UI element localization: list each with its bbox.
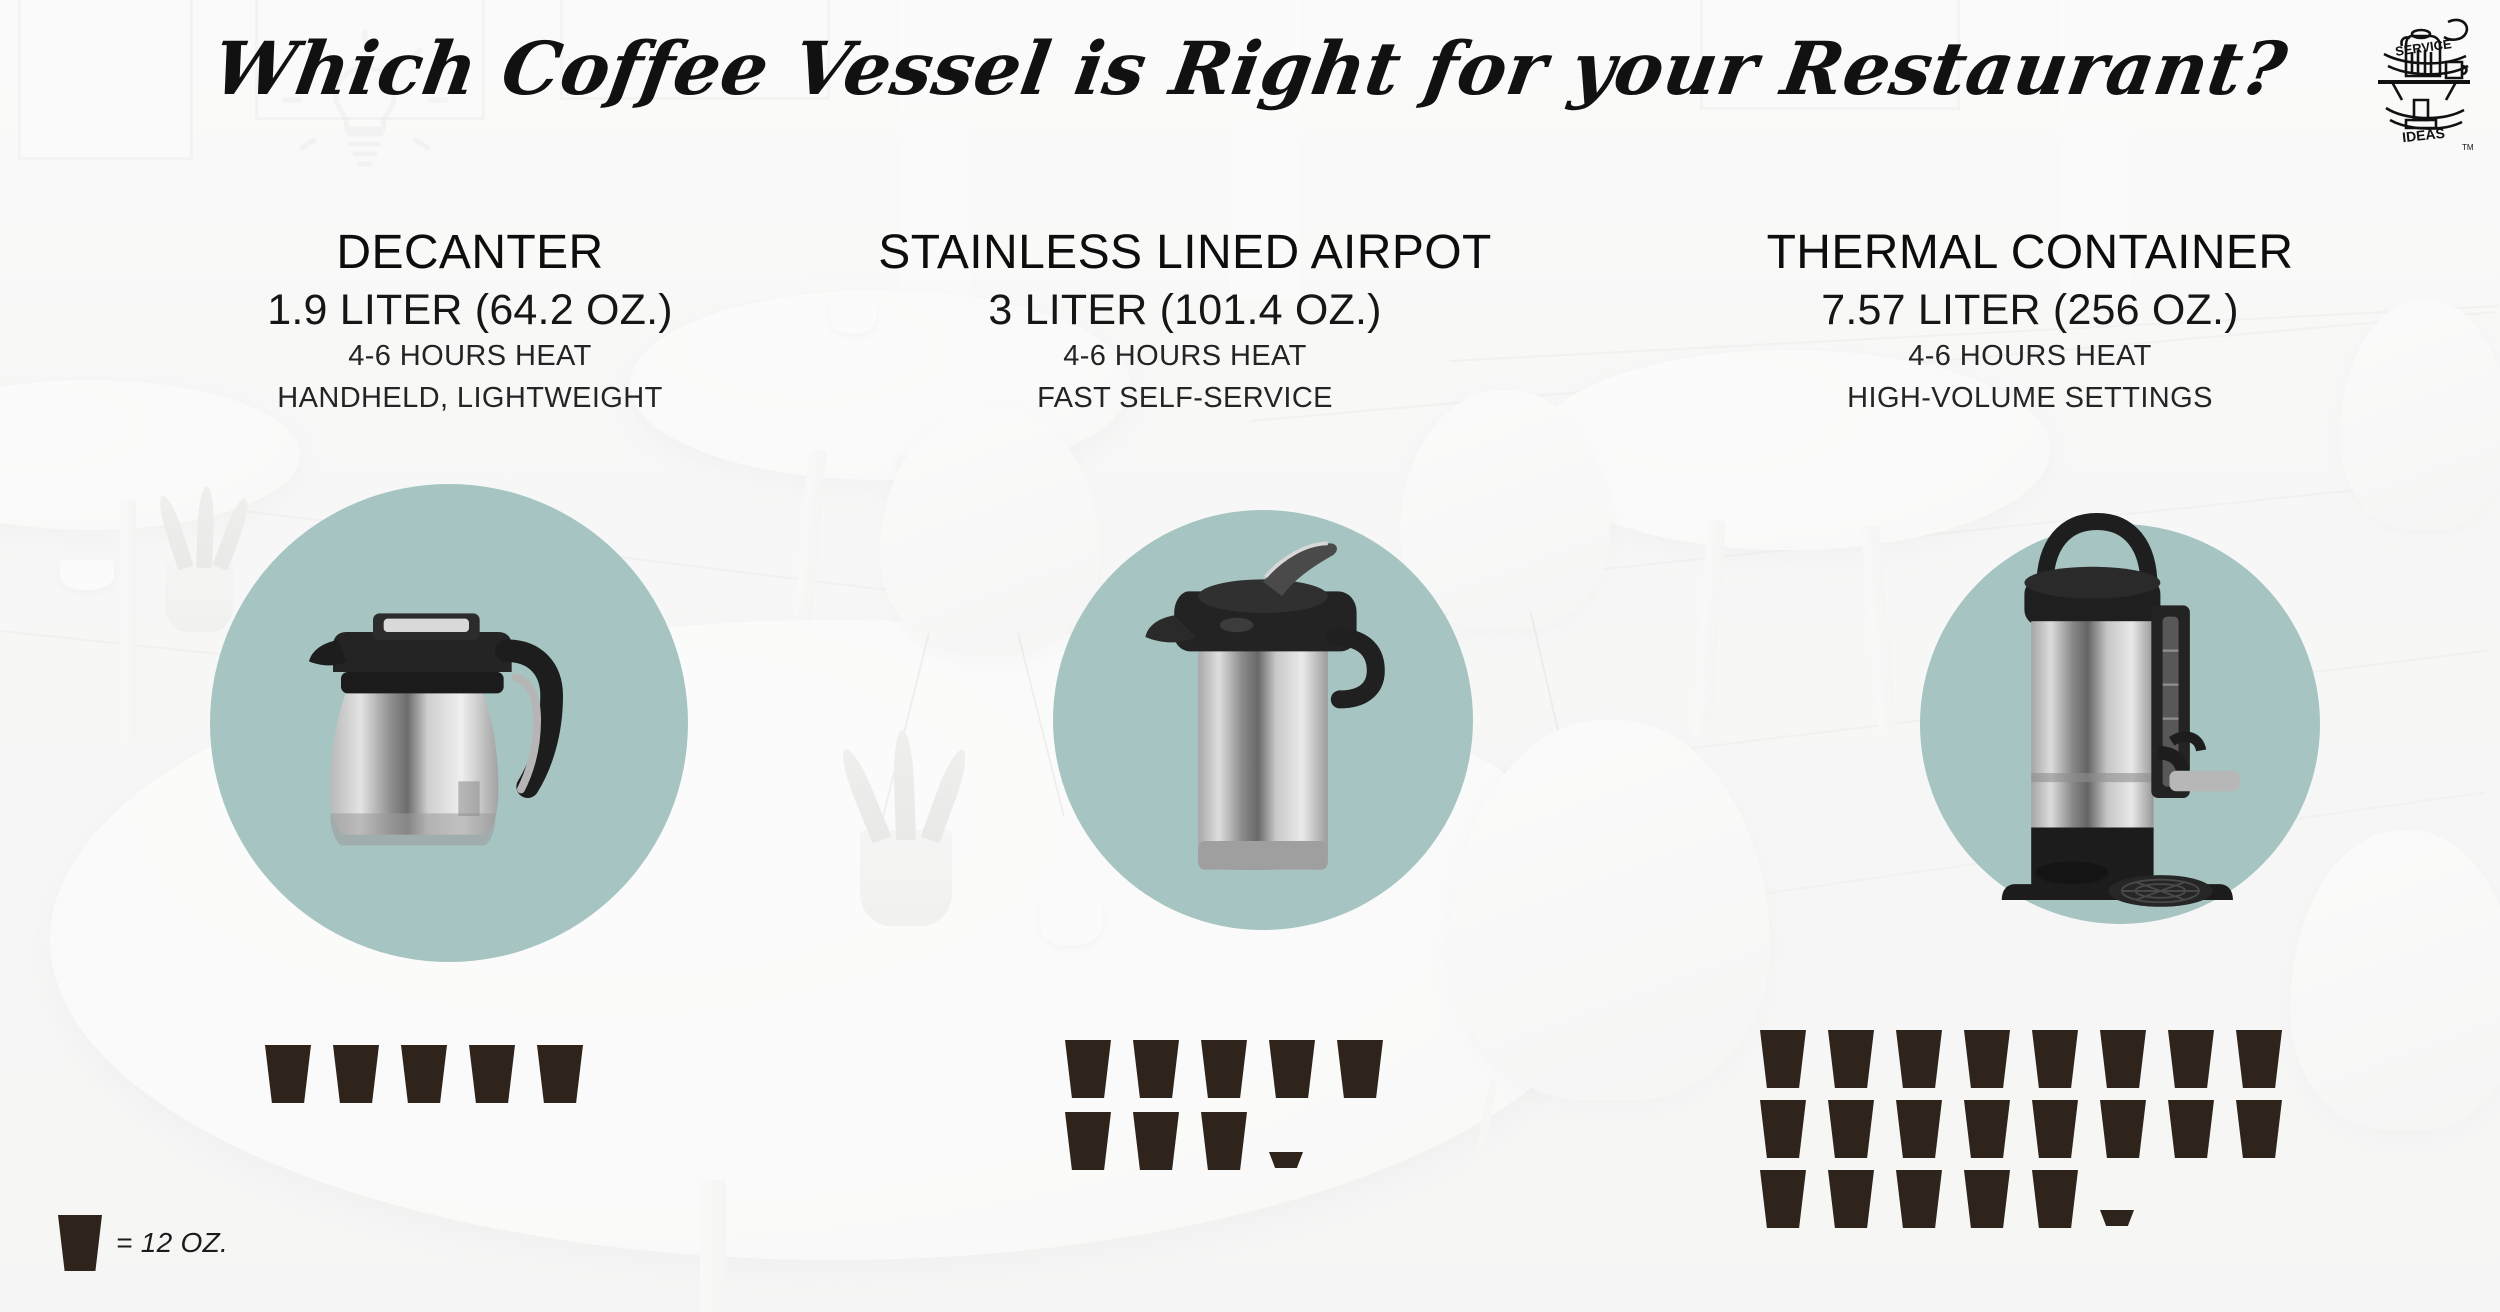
- cup-pictogram: [1828, 1030, 1874, 1088]
- column-volume: 3 LITER (101.4 OZ.): [835, 288, 1535, 334]
- cup-pictogram: [1065, 1040, 1111, 1098]
- column-volume: 7.57 LITER (256 OZ.): [1680, 288, 2380, 334]
- cup-pictogram: [1133, 1040, 1179, 1098]
- cup-pictogram-group-decanter: [265, 1045, 605, 1103]
- cup-pictogram: [1337, 1040, 1383, 1098]
- cup-row: [1760, 1100, 2304, 1158]
- cup-pictogram: [333, 1045, 379, 1103]
- cup-pictogram: [1828, 1170, 1874, 1228]
- column-decanter: DECANTER 1.9 LITER (64.2 OZ.) 4-6 HOURS …: [120, 228, 820, 417]
- cup-pictogram-group-airpot: [1065, 1040, 1405, 1170]
- cup-pictogram-group-thermal-container: [1760, 1030, 2304, 1228]
- cup-pictogram: [2032, 1100, 2078, 1158]
- cup-pictogram: [2236, 1100, 2282, 1158]
- cup-pictogram: [2100, 1100, 2146, 1158]
- column-heat: 4-6 HOURS HEAT: [835, 338, 1535, 375]
- column-airpot: STAINLESS LINED AIRPOT 3 LITER (101.4 OZ…: [835, 228, 1535, 417]
- cup-row: [1760, 1030, 2304, 1088]
- service-ideas-logo: SERVICE IDEAS TM: [2370, 8, 2478, 158]
- page-title: Which Coffee Vessel is Right for your Re…: [0, 26, 2500, 112]
- column-title: DECANTER: [120, 228, 820, 278]
- airpot-product-image: [1083, 450, 1443, 920]
- cup-pictogram: [1760, 1170, 1806, 1228]
- cup-pictogram-partial: [1269, 1152, 1303, 1168]
- legend-cup-icon: [58, 1215, 102, 1271]
- cup-pictogram: [1964, 1100, 2010, 1158]
- infographic-canvas: Which Coffee Vessel is Right for your Re…: [0, 0, 2500, 1312]
- column-feature: HIGH-VOLUME SETTINGS: [1680, 380, 2380, 417]
- cup-pictogram: [469, 1045, 515, 1103]
- decanter-product-image: [240, 528, 650, 928]
- column-feature: FAST SELF-SERVICE: [835, 380, 1535, 417]
- column-title: THERMAL CONTAINER: [1680, 228, 2380, 278]
- column-heat: 4-6 HOURS HEAT: [1680, 338, 2380, 375]
- cup-pictogram: [1896, 1030, 1942, 1088]
- cup-pictogram: [2032, 1170, 2078, 1228]
- cup-pictogram: [1760, 1100, 1806, 1158]
- cup-pictogram: [1201, 1112, 1247, 1170]
- cup-pictogram: [2168, 1100, 2214, 1158]
- product-circle-decanter: [210, 484, 688, 962]
- cup-row: [1065, 1040, 1405, 1098]
- column-title: STAINLESS LINED AIRPOT: [835, 228, 1535, 278]
- cup-pictogram: [1964, 1030, 2010, 1088]
- cup-pictogram: [1760, 1030, 1806, 1088]
- cup-row: [1760, 1170, 2304, 1228]
- product-circle-thermal-container: [1920, 524, 2320, 924]
- cup-row: [1065, 1112, 1405, 1170]
- cup-pictogram: [1896, 1100, 1942, 1158]
- cup-pictogram: [265, 1045, 311, 1103]
- logo-word-ideas: IDEAS: [2401, 125, 2445, 145]
- cup-pictogram-partial: [2100, 1210, 2134, 1226]
- column-thermal-container: THERMAL CONTAINER 7.57 LITER (256 OZ.) 4…: [1680, 228, 2380, 417]
- column-volume: 1.9 LITER (64.2 OZ.): [120, 288, 820, 334]
- cup-pictogram: [401, 1045, 447, 1103]
- logo-trademark: TM: [2462, 143, 2474, 152]
- cup-pictogram: [1964, 1170, 2010, 1228]
- cup-pictogram: [2168, 1030, 2214, 1088]
- legend-label: = 12 OZ.: [116, 1227, 228, 1259]
- legend: = 12 OZ.: [58, 1215, 228, 1271]
- cup-pictogram: [1201, 1040, 1247, 1098]
- column-feature: HANDHELD, LIGHTWEIGHT: [120, 380, 820, 417]
- thermal-container-product-image: [1936, 446, 2276, 946]
- cup-pictogram: [1133, 1112, 1179, 1170]
- cup-pictogram: [1065, 1112, 1111, 1170]
- cup-pictogram: [2100, 1030, 2146, 1088]
- column-heat: 4-6 HOURS HEAT: [120, 338, 820, 375]
- product-circle-airpot: [1053, 510, 1473, 930]
- cup-row: [265, 1045, 605, 1103]
- cup-pictogram: [1896, 1170, 1942, 1228]
- cup-pictogram: [1828, 1100, 1874, 1158]
- cup-pictogram: [2032, 1030, 2078, 1088]
- cup-pictogram: [2236, 1030, 2282, 1088]
- cup-pictogram: [537, 1045, 583, 1103]
- cup-pictogram: [1269, 1040, 1315, 1098]
